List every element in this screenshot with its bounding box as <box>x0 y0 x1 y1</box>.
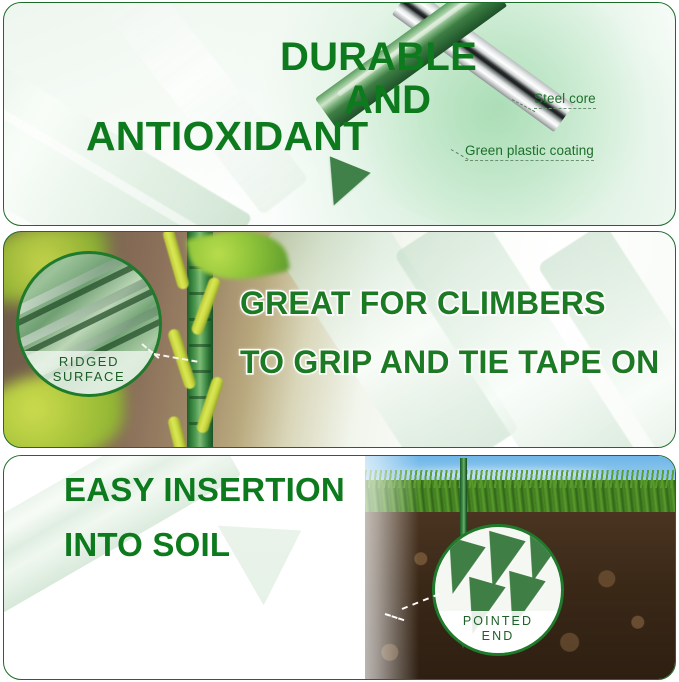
stake-pointed-tip-image <box>313 156 370 213</box>
green-plastic-coating-label: Green plastic coating <box>465 143 594 161</box>
ridged-surface-caption: RIDGED SURFACE <box>19 351 159 394</box>
steel-core-label: Steel core <box>534 91 596 109</box>
headline-easy-insertion: EASY INSERTION <box>64 473 345 506</box>
climbing-vine-segment <box>167 415 189 448</box>
headline-durable: DURABLE <box>280 37 477 77</box>
ridged-surface-caption-line1: RIDGED <box>19 355 159 370</box>
ridged-surface-caption-line2: SURFACE <box>19 370 159 385</box>
panel-durable-antioxidant: Steel core Green plastic coating DURABLE… <box>3 2 676 226</box>
headline-great-for-climbers: GREAT FOR CLIMBERS <box>240 287 606 319</box>
headline-antioxidant: ANTIOXIDANT <box>86 116 368 157</box>
headline-to-grip-and-tie-tape-on: TO GRIP AND TIE TAPE ON <box>240 346 659 378</box>
headline-into-soil: INTO SOIL <box>64 528 230 561</box>
product-infographic: Steel core Green plastic coating DURABLE… <box>0 0 679 682</box>
pointed-end-caption-line1: POINTED <box>435 614 561 628</box>
pointed-end-caption: POINTED END <box>435 611 561 653</box>
ridged-surface-callout: RIDGED SURFACE <box>16 251 162 397</box>
panel-easy-insertion-into-soil: POINTED END EASY INSERTION INTO SOIL <box>3 455 676 680</box>
pointed-end-caption-line2: END <box>435 629 561 643</box>
panel-great-for-climbers: GREAT FOR CLIMBERS TO GRIP AND TIE TAPE … <box>3 231 676 448</box>
pointed-end-callout: POINTED END <box>432 524 564 656</box>
